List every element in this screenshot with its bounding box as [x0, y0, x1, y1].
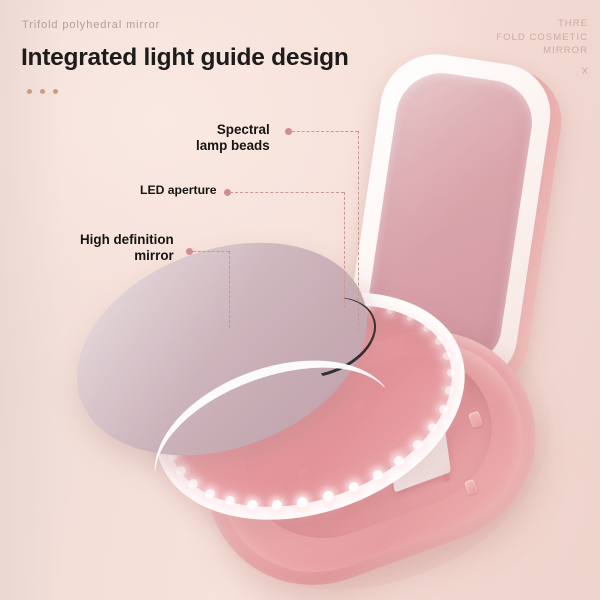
brand-line-2: FOLD COSMETIC	[496, 31, 588, 45]
brand-mark: X	[496, 65, 588, 79]
callout-dot-led-aperture[interactable]	[224, 189, 231, 196]
led-bead	[423, 325, 430, 332]
brand-line-3: MIRROR	[496, 44, 588, 58]
led-bead	[447, 369, 455, 377]
led-bead	[349, 482, 360, 493]
brand-line-1: THRE	[496, 17, 588, 31]
decorative-dots	[27, 89, 58, 94]
kicker-text: Trifold polyhedral mirror	[22, 19, 160, 31]
callout-label-spectral-lamp-beads: Spectral lamp beads	[196, 122, 270, 153]
led-bead	[323, 491, 334, 502]
led-bead	[435, 337, 442, 344]
decorative-dot	[40, 89, 45, 94]
brand-watermark: THRE FOLD COSMETIC MIRROR X	[496, 17, 588, 78]
led-bead	[443, 352, 451, 360]
callout-label-led-aperture: LED aperture	[140, 183, 217, 197]
led-bead	[176, 466, 186, 476]
led-bead	[445, 386, 454, 395]
callout-dot-spectral-lamp-beads[interactable]	[285, 128, 292, 135]
callout-dot-high-definition-mirror[interactable]	[186, 248, 193, 255]
led-bead	[439, 405, 448, 414]
decorative-dot	[27, 89, 32, 94]
led-bead	[247, 500, 258, 511]
page-title: Integrated light guide design	[21, 44, 349, 72]
decorative-dot	[53, 89, 58, 94]
led-bead	[373, 470, 383, 480]
callout-label-high-definition-mirror: High definition mirror	[80, 232, 174, 263]
product-marketing-image: Spectral lamp beads LED aperture High de…	[0, 0, 600, 600]
product-illustration	[0, 0, 600, 600]
led-bead	[413, 440, 423, 450]
